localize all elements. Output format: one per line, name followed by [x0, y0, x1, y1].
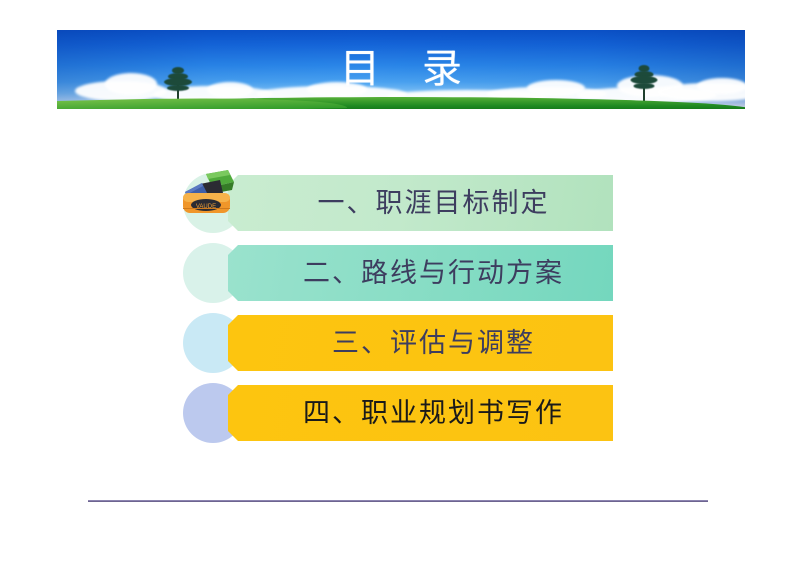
- sidebar-item-4[interactable]: 四、职业规划书写作: [228, 385, 613, 441]
- sidebar-item-1[interactable]: 一、职涯目标制定: [228, 175, 613, 231]
- footer-divider: [88, 500, 708, 502]
- svg-text:VAUDE: VAUDE: [196, 204, 216, 210]
- list-item[interactable]: 二、路线与行动方案: [0, 238, 793, 308]
- sidebar-item-label: 三、评估与调整: [306, 330, 535, 357]
- table-of-contents: 一、职涯目标制定 VAUDE: [0, 168, 793, 448]
- sidebar-item-label: 四、职业规划书写作: [277, 400, 564, 427]
- sidebar-item-2[interactable]: 二、路线与行动方案: [228, 245, 613, 301]
- page-title: 目 录: [57, 49, 745, 89]
- sidebar-item-3[interactable]: 三、评估与调整: [228, 315, 613, 371]
- list-item[interactable]: 四、职业规划书写作: [0, 378, 793, 448]
- list-item[interactable]: 三、评估与调整: [0, 308, 793, 378]
- list-item[interactable]: 一、职涯目标制定 VAUDE: [0, 168, 793, 238]
- sidebar-item-label: 一、职涯目标制定: [292, 190, 550, 217]
- header-banner: 目 录: [57, 30, 745, 109]
- slide-canvas: 目 录 一、职涯目标制定: [0, 0, 793, 561]
- sidebar-item-label: 二、路线与行动方案: [277, 260, 564, 287]
- duffel-bag-icon: VAUDE: [176, 168, 238, 224]
